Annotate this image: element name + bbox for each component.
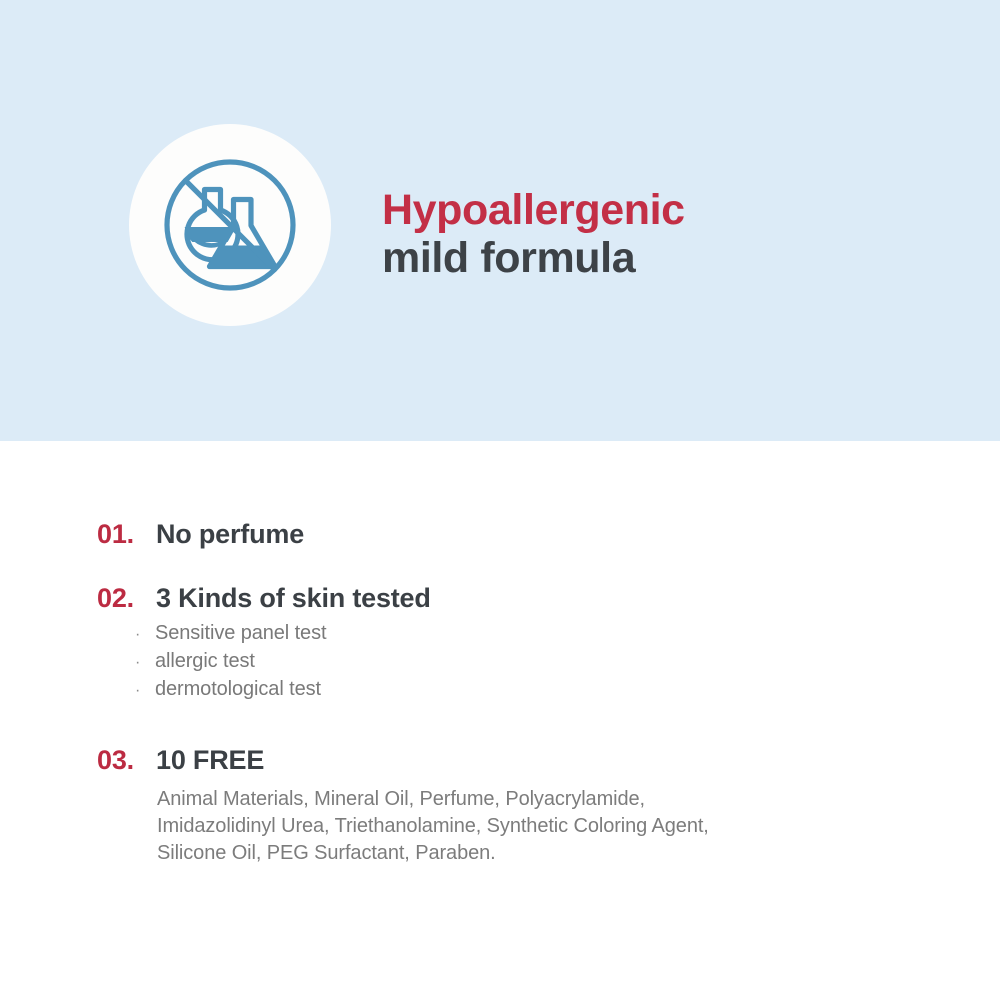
hero-headline-line2: mild formula (382, 234, 942, 282)
list-item-label: Sensitive panel test (155, 620, 957, 646)
feature-heading: 03. 10 FREE (97, 743, 957, 777)
feature-number: 03. (97, 743, 156, 777)
hero-headline: Hypoallergenic mild formula (382, 186, 942, 282)
feature-title: 3 Kinds of skin tested (156, 581, 957, 615)
feature-title: No perfume (156, 517, 957, 551)
list-item: · allergic test (97, 648, 957, 676)
product-feature-infographic: Hypoallergenic mild formula 01. No perfu… (0, 0, 1000, 1000)
list-item-label: allergic test (155, 648, 957, 674)
bullet-icon: · (135, 678, 155, 704)
excluded-ingredients-paragraph: Animal Materials, Mineral Oil, Perfume, … (157, 786, 947, 867)
icon-badge (129, 124, 331, 326)
feature-heading: 01. No perfume (97, 517, 957, 551)
ingredients-line: Silicone Oil, PEG Surfactant, Paraben. (157, 840, 947, 867)
bullet-icon: · (135, 622, 155, 648)
ingredients-line: Animal Materials, Mineral Oil, Perfume, … (157, 786, 947, 813)
feature-item-02: 02. 3 Kinds of skin tested · Sensitive p… (97, 581, 957, 704)
ingredients-line: Imidazolidinyl Urea, Triethanolamine, Sy… (157, 813, 947, 840)
hero-banner: Hypoallergenic mild formula (0, 0, 1000, 441)
feature-item-03: 03. 10 FREE Animal Materials, Mineral Oi… (97, 743, 957, 867)
feature-number: 01. (97, 517, 156, 551)
list-item: · dermotological test (97, 676, 957, 704)
feature-item-01: 01. No perfume (97, 517, 957, 551)
hero-banner-content: Hypoallergenic mild formula (0, 0, 1000, 441)
feature-list-panel: 01. No perfume 02. 3 Kinds of skin teste… (0, 441, 1000, 1000)
feature-sub-list: · Sensitive panel test · allergic test ·… (97, 620, 957, 704)
list-item: · Sensitive panel test (97, 620, 957, 648)
feature-number: 02. (97, 581, 156, 615)
bullet-icon: · (135, 650, 155, 676)
feature-heading: 02. 3 Kinds of skin tested (97, 581, 957, 615)
feature-title: 10 FREE (156, 743, 957, 777)
hero-headline-line1: Hypoallergenic (382, 186, 942, 234)
no-chemicals-icon (158, 153, 302, 297)
list-item-label: dermotological test (155, 676, 957, 702)
